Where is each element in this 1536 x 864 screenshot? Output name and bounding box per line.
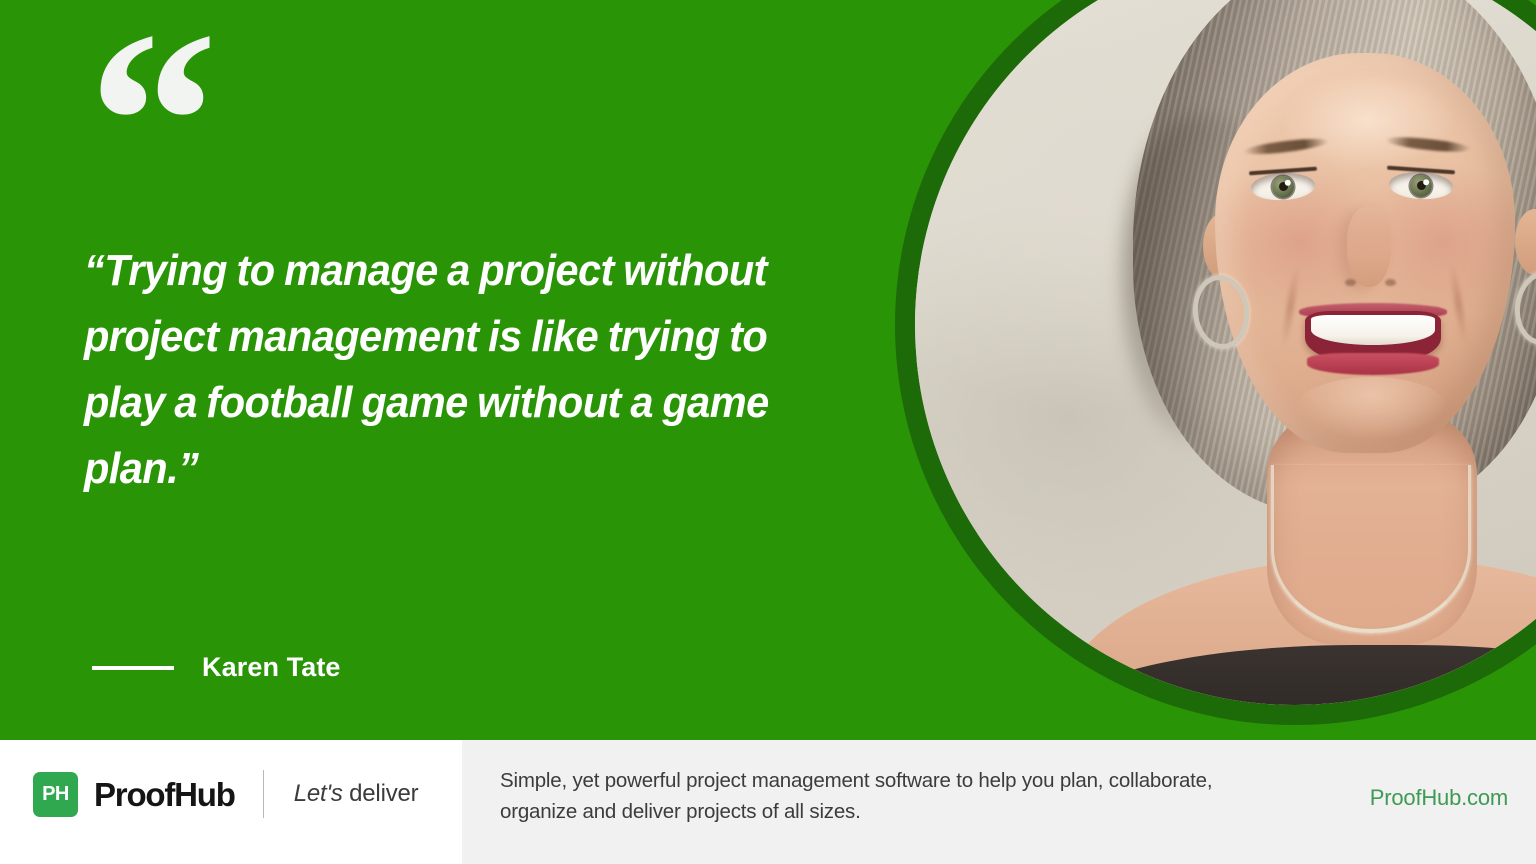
brand-name: ProofHub [94,778,235,811]
footer-description: Simple, yet powerful project management … [500,765,1260,827]
necklace-shape [1271,465,1471,633]
teeth [1311,315,1435,345]
logo-badge-label: PH [42,784,69,804]
brand-lockup[interactable]: PH ProofHub Let's deliver [33,770,418,818]
footer-website-url[interactable]: ProofHub.com [1370,785,1508,811]
lower-lip [1307,353,1439,375]
proofhub-logo-icon: PH [33,772,78,817]
nose-shape [1347,207,1391,287]
tagline-lets: Let's [294,780,343,807]
brand-divider [263,770,264,818]
chin-highlight [1297,377,1447,439]
portrait-photo [915,0,1536,705]
tagline-deliver: deliver [349,780,418,807]
nostril-left [1345,279,1356,286]
portrait-ring [895,0,1536,725]
nostril-right [1385,279,1396,286]
iris-right [1409,174,1432,197]
eye-glint-right [1423,179,1429,185]
attribution-rule-divider [92,666,174,670]
quotation-mark-icon: “ [88,0,212,252]
iris-left [1271,175,1294,198]
hero-panel: “ “Trying to manage a project without pr… [0,0,1536,740]
portrait-avatar [915,0,1536,705]
quote-text: “Trying to manage a project without proj… [84,238,858,502]
quote-card-canvas: “ “Trying to manage a project without pr… [0,0,1536,864]
author-name: Karen Tate [202,652,341,683]
attribution: Karen Tate [92,652,341,683]
brand-tagline: Let's deliver [294,780,419,808]
eye-glint-left [1284,179,1290,185]
